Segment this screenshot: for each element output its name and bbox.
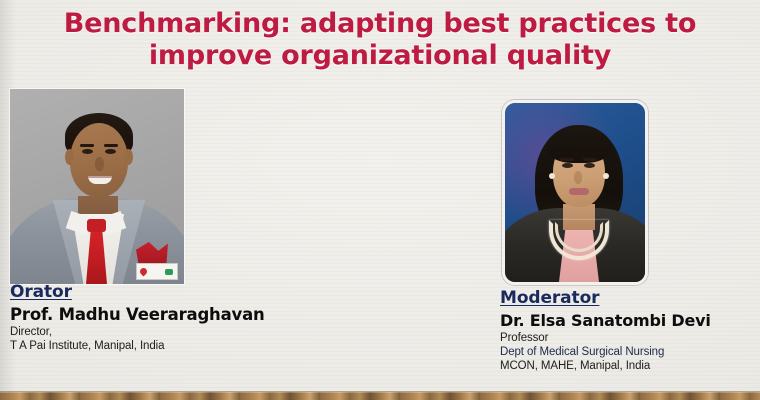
orator-eye-right (105, 149, 116, 154)
moderator-earring-left (549, 173, 555, 179)
moderator-affiliation: MCON, MAHE, Manipal, India (500, 360, 711, 372)
orator-eyebrow-left (80, 144, 94, 147)
orator-tie-knot (87, 219, 106, 232)
moderator-name: Dr. Elsa Sanatombi Devi (500, 311, 711, 330)
moderator-photo (502, 100, 648, 285)
orator-photo (10, 89, 184, 284)
title-line-1: Benchmarking: adapting best practices to (0, 8, 760, 40)
moderator-eye-left (562, 163, 573, 168)
wooden-floor-strip (0, 392, 760, 400)
orator-ear-left (65, 149, 74, 165)
orator-designation: Director, (10, 326, 265, 338)
presentation-slide: Benchmarking: adapting best practices to… (0, 0, 760, 400)
orator-affiliation: T A Pai Institute, Manipal, India (10, 340, 265, 352)
orator-ear-right (124, 149, 133, 165)
moderator-earring-right (603, 173, 609, 179)
moderator-eye-right (584, 163, 595, 168)
moderator-eyebrow-left (560, 158, 574, 161)
moderator-designation: Professor (500, 332, 711, 344)
slide-title: Benchmarking: adapting best practices to… (0, 8, 760, 72)
orator-name: Prof. Madhu Veeraraghavan (10, 305, 265, 324)
moderator-caption: Moderator Dr. Elsa Sanatombi Devi Profes… (500, 288, 711, 372)
moderator-department: Dept of Medical Surgical Nursing (500, 346, 711, 358)
moderator-nose (574, 171, 582, 184)
moderator-lips (569, 188, 589, 195)
title-line-2: improve organizational quality (0, 40, 760, 72)
moderator-fringe (547, 129, 611, 163)
orator-nose (95, 157, 104, 171)
orator-caption: Orator Prof. Madhu Veeraraghavan Directo… (10, 282, 265, 352)
moderator-eyebrow-right (583, 158, 597, 161)
orator-name-badge (136, 263, 178, 280)
moderator-role-label: Moderator (500, 288, 599, 308)
orator-eyebrow-right (104, 144, 118, 147)
orator-eye-left (82, 149, 93, 154)
orator-role-label: Orator (10, 282, 72, 302)
